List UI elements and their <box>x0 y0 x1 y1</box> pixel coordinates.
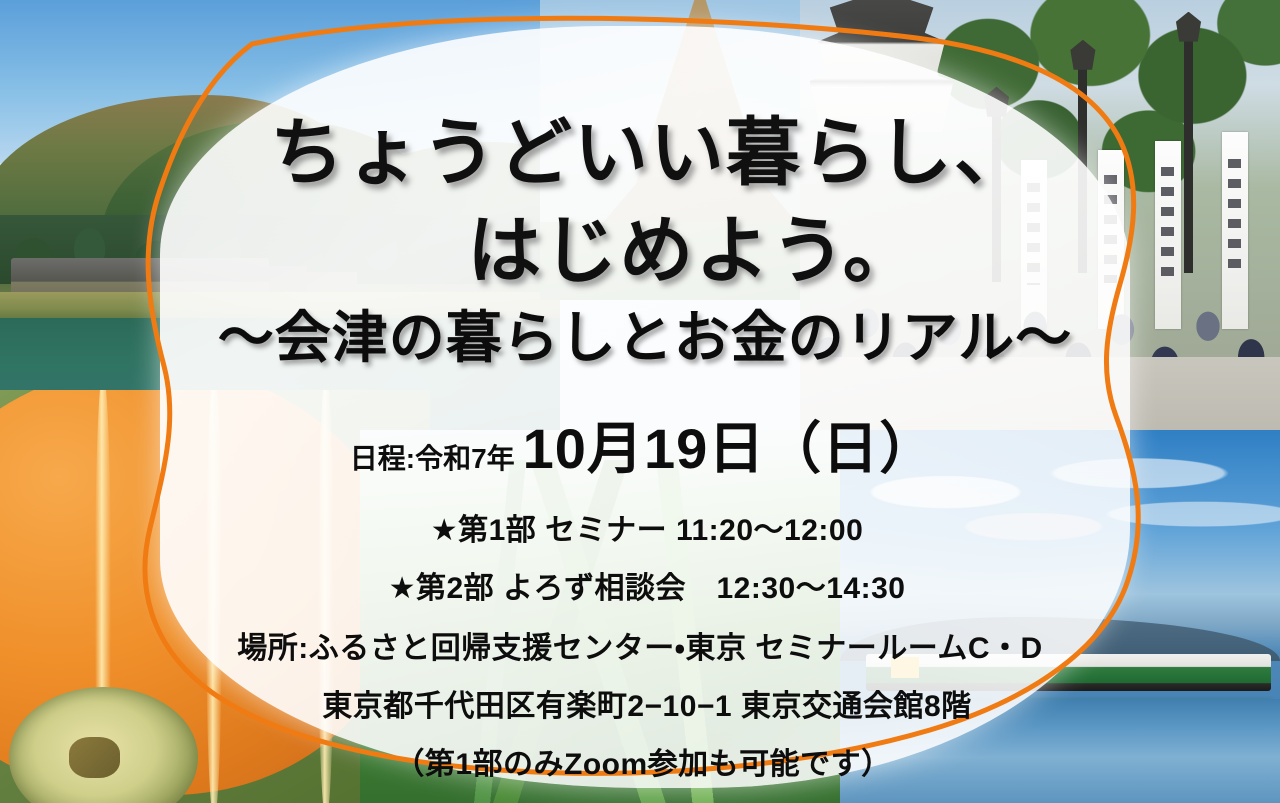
flyer-canvas: ちょうどいい暮らし、 はじめよう。 〜会津の暮らしとお金のリアル〜 日程:令和7… <box>0 0 1280 803</box>
venue-line: 場所:ふるさと回帰支援センター・東京 セミナールームC・D <box>237 623 1042 667</box>
title-line-1: ちょうどいい暮らし、 <box>270 116 1030 190</box>
title-line-2: はじめよう。 <box>467 214 919 288</box>
date-main-value: 10月19日（日） <box>523 404 937 485</box>
address-line: 東京都千代田区有楽町2−10−1 東京交通会館8階 <box>322 681 971 725</box>
zoom-participation-note: （第1部のみZoom参加も可能です） <box>394 739 891 783</box>
session-part-2: ★第2部 よろず相談会 12:30〜14:30 <box>389 563 906 607</box>
flyer-text-content: ちょうどいい暮らし、 はじめよう。 〜会津の暮らしとお金のリアル〜 日程:令和7… <box>0 0 1280 803</box>
event-date-row: 日程:令和7年 10月19日（日） <box>350 404 936 485</box>
subtitle: 〜会津の暮らしとお金のリアル〜 <box>218 310 1072 366</box>
date-prefix-label: 日程:令和7年 <box>350 437 515 477</box>
session-part-1: ★第1部 セミナー 11:20〜12:00 <box>431 505 864 549</box>
